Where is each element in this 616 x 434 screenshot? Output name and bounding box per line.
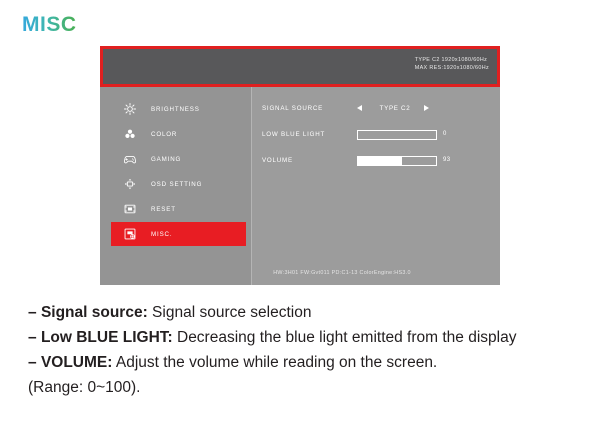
chevron-right-icon[interactable]: [424, 105, 429, 111]
caption-signal-source: – Signal source: Signal source selection: [28, 300, 598, 325]
sidebar-item-reset[interactable]: RESET: [111, 197, 243, 221]
signal-source-label: SIGNAL SOURCE: [262, 105, 323, 112]
sidebar-item-osd-setting[interactable]: OSD SETTING: [111, 172, 243, 196]
caption-dash: –: [28, 354, 37, 371]
osd-body: BRIGHTNESS COLOR: [100, 87, 500, 285]
gaming-icon: [123, 152, 137, 166]
osd-header-info: TYPE C2 1920x1080/60Hz MAX RES:1920x1080…: [415, 56, 489, 72]
sidebar-item-brightness[interactable]: BRIGHTNESS: [111, 97, 243, 121]
caption-text: Signal source selection: [148, 304, 312, 321]
low-blue-light-value: 0: [443, 131, 447, 137]
caption-volume: – VOLUME: Adjust the volume while readin…: [28, 350, 598, 375]
sidebar-item-gaming[interactable]: GAMING: [111, 147, 243, 171]
volume-value: 93: [443, 157, 450, 163]
option-row-low-blue-light: LOW BLUE LIGHT 0: [253, 127, 500, 143]
caption-text: Decreasing the blue light emitted from t…: [173, 329, 517, 346]
caption-low-blue-light: – Low BLUE LIGHT: Decreasing the blue li…: [28, 325, 598, 350]
osd-sidebar: BRIGHTNESS COLOR: [100, 87, 252, 285]
volume-label: VOLUME: [262, 157, 293, 164]
volume-slider[interactable]: [357, 156, 437, 166]
sidebar-item-color[interactable]: COLOR: [111, 122, 243, 146]
caption-text: (Range: 0~100).: [28, 379, 140, 396]
low-blue-light-label: LOW BLUE LIGHT: [262, 131, 325, 138]
sidebar-item-label: OSD SETTING: [151, 181, 202, 188]
osd-header: TYPE C2 1920x1080/60Hz MAX RES:1920x1080…: [100, 46, 500, 87]
color-icon: [123, 127, 137, 141]
chevron-left-icon[interactable]: [357, 105, 362, 111]
sidebar-item-misc[interactable]: MISC.: [111, 222, 246, 246]
sidebar-item-label: GAMING: [151, 156, 181, 163]
caption-volume-range: (Range: 0~100).: [28, 375, 598, 400]
volume-slider-fill: [358, 157, 402, 165]
brightness-icon: [123, 102, 137, 116]
osd-panel: TYPE C2 1920x1080/60Hz MAX RES:1920x1080…: [100, 46, 500, 285]
option-row-volume: VOLUME 93: [253, 153, 500, 169]
sidebar-item-label: MISC.: [151, 231, 172, 238]
page-title: MISC: [22, 13, 77, 37]
sidebar-item-label: RESET: [151, 206, 176, 213]
signal-source-value[interactable]: TYPE C2: [367, 105, 423, 112]
low-blue-light-slider[interactable]: [357, 130, 437, 140]
caption-term: Signal source:: [41, 304, 148, 321]
reset-icon: [123, 202, 137, 216]
caption-term: VOLUME:: [41, 354, 112, 371]
sidebar-item-label: COLOR: [151, 131, 177, 138]
osd-settings-pane: SIGNAL SOURCE TYPE C2 LOW BLUE LIGHT 0 V…: [253, 87, 500, 285]
osd-setting-icon: [123, 177, 137, 191]
page-root: MISC TYPE C2 1920x1080/60Hz MAX RES:1920…: [0, 0, 616, 434]
caption-text: Adjust the volume while reading on the s…: [112, 354, 437, 371]
misc-icon: [123, 227, 137, 241]
caption-dash: –: [28, 304, 37, 321]
osd-firmware-footer: HW:3H01 FW:Gvt011 PD:C1-13 ColorEngine:H…: [100, 270, 500, 276]
caption-block: – Signal source: Signal source selection…: [28, 300, 598, 400]
osd-header-maxres-line: MAX RES:1920x1080/60Hz: [415, 64, 489, 72]
sidebar-item-label: BRIGHTNESS: [151, 106, 200, 113]
caption-dash: –: [28, 329, 37, 346]
osd-header-type-line: TYPE C2 1920x1080/60Hz: [415, 56, 489, 64]
caption-term: Low BLUE LIGHT:: [41, 329, 173, 346]
option-row-signal-source: SIGNAL SOURCE TYPE C2: [253, 101, 500, 117]
